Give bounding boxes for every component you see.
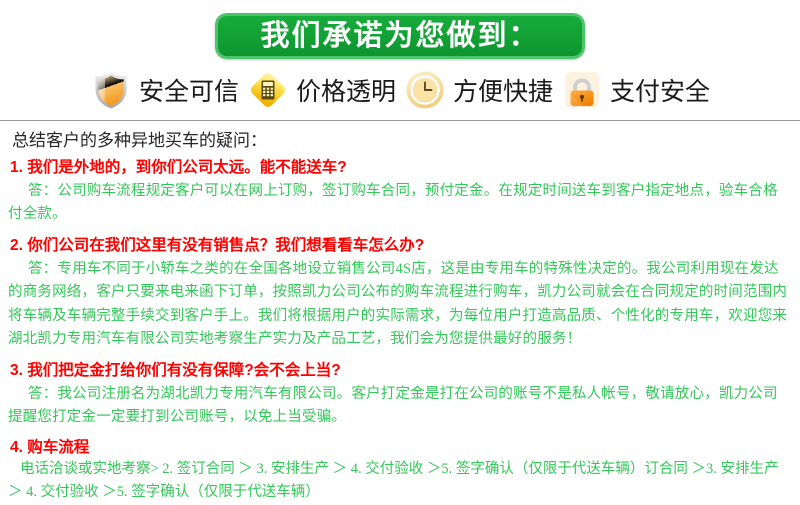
feature-item-security: 安全可信 <box>90 69 239 111</box>
faq-answer-2: 答：专用车不同于小轿车之类的在全国各地设立销售公司4S店，这是由专用车的特殊性决… <box>8 258 792 352</box>
faq-content: 总结客户的多种异地买车的疑问： 1. 我们是外地的，到你们公司太远。能不能送车?… <box>0 121 800 505</box>
feature-row: 安全可信 <box>0 69 800 111</box>
faq-question-2: 2. 你们公司在我们这里有没有销售点？我们想看看车怎么办? <box>10 233 792 255</box>
feature-label: 方便快捷 <box>453 72 553 108</box>
banner-section: 我们承诺为您做到： <box>0 0 800 59</box>
promise-banner: 我们承诺为您做到： <box>215 13 585 59</box>
lock-icon <box>561 69 603 111</box>
purchase-process-steps: 电话洽谈或实地考察> 2. 签订合同 ＞ 3. 安排生产 ＞ 4. 交付验收 ＞… <box>8 458 792 505</box>
clock-icon <box>404 69 446 111</box>
faq-question-1: 1. 我们是外地的，到你们公司太远。能不能送车? <box>10 155 792 177</box>
faq-answer-3: 答：我公司注册名为湖北凯力专用汽车有限公司。客户打定金是打在公司的账号不是私人帐… <box>8 383 792 430</box>
faq-answer-1: 答：公司购车流程规定客户可以在网上订购，签订购车合同，预付定金。在规定时间送车到… <box>8 180 792 227</box>
feature-item-payment: 支付安全 <box>561 69 710 111</box>
feature-label: 支付安全 <box>610 72 710 108</box>
banner-title: 我们承诺为您做到： <box>260 22 539 51</box>
feature-item-price: 价格透明 <box>247 69 396 111</box>
page-title: 总结客户的多种异地买车的疑问： <box>12 126 792 151</box>
faq-question-3: 3. 我们把定金打给你们有没有保障?会不会上当? <box>10 358 792 380</box>
shield-icon <box>90 69 132 111</box>
calculator-diamond-icon <box>247 69 289 111</box>
purchase-process-title: 4. 购车流程 <box>10 435 792 457</box>
feature-item-convenience: 方便快捷 <box>404 69 553 111</box>
feature-label: 安全可信 <box>139 72 239 108</box>
feature-label: 价格透明 <box>296 72 396 108</box>
